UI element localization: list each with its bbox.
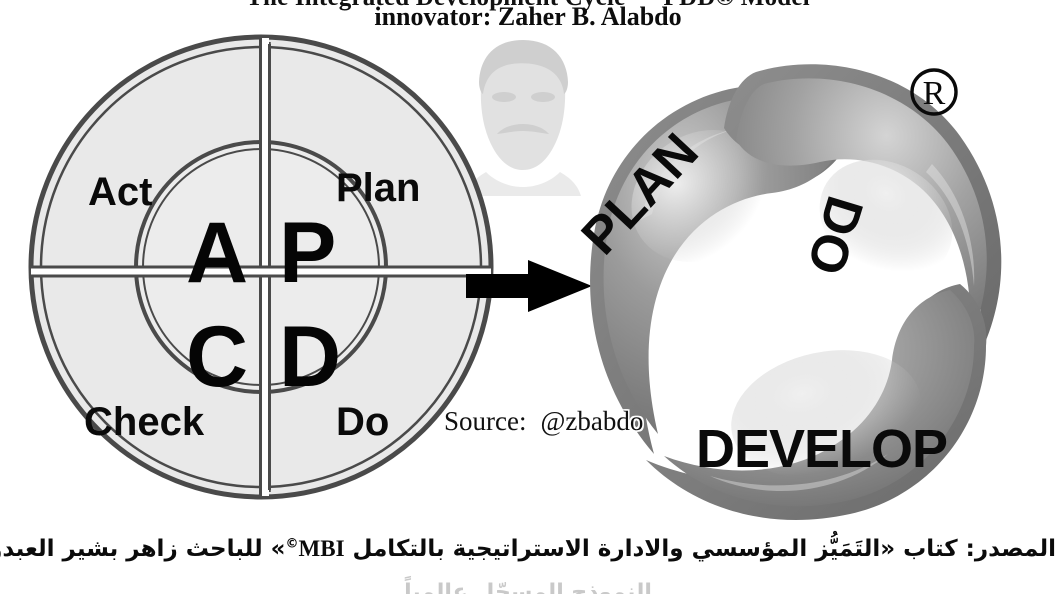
arabic-source-post: » للباحث زاهر بشير العبدو <box>0 536 286 562</box>
arabic-source-line-2: النموذج المسجّل عالمياً <box>0 580 1056 594</box>
registered-trademark-icon: R <box>908 66 960 118</box>
pdca-label-check: Check <box>84 402 204 442</box>
pdca-label-plan: Plan <box>336 168 420 208</box>
source-label: Source: <box>444 406 526 436</box>
arabic-source-pre: المصدر: كتاب «التَمَيُّز المؤسسي والادار… <box>345 536 1056 562</box>
trefoil-label-develop: DEVELOP <box>696 422 947 476</box>
pdca-letter-p: P <box>279 210 336 296</box>
pdca-circle-diagram: Act Plan Check Do A P C D <box>26 32 496 502</box>
pdca-label-do: Do <box>336 402 389 442</box>
figure-canvas: The Integrated Development Cycle — PDD® … <box>0 0 1056 594</box>
pdca-letter-c: C <box>186 314 248 400</box>
pdca-letter-d: D <box>279 314 341 400</box>
svg-text:R: R <box>923 75 946 112</box>
arabic-source-mbi: MBI <box>299 536 345 561</box>
pdca-label-act: Act <box>88 172 152 212</box>
arabic-source-copyright: © <box>286 536 299 551</box>
source-caption: Source:@zbabdo <box>444 406 643 437</box>
source-handle: @zbabdo <box>540 406 643 436</box>
pdca-letter-a: A <box>186 210 248 296</box>
arabic-source-line: المصدر: كتاب «التَمَيُّز المؤسسي والادار… <box>0 536 1056 562</box>
